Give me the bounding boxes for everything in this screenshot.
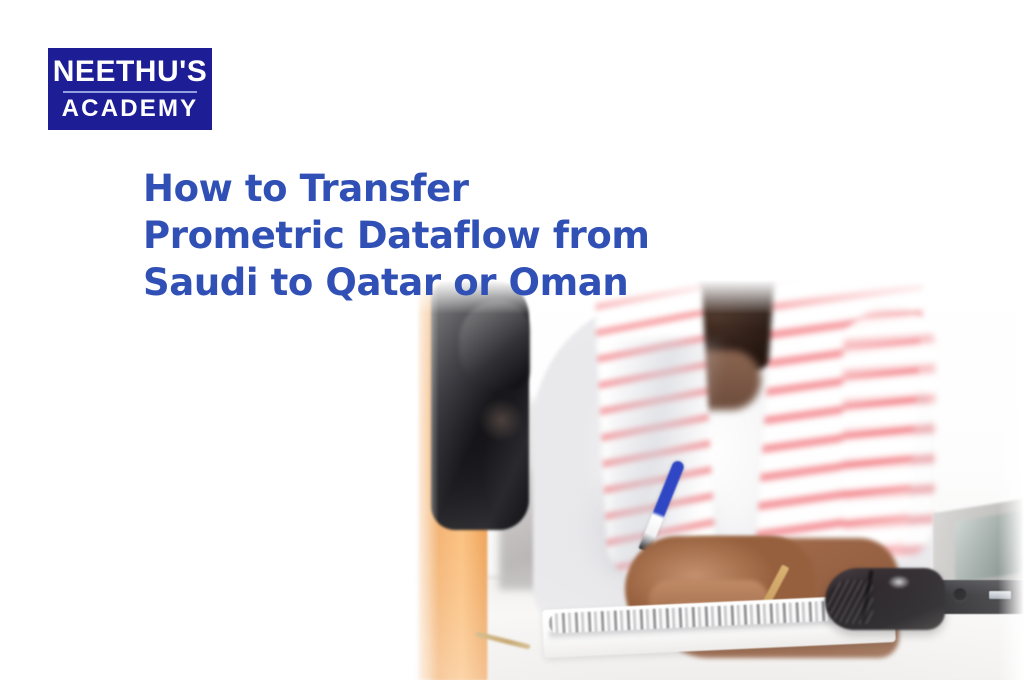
page-title-line-2: Prometric Dataflow from	[143, 212, 743, 259]
page-title-line-1: How to Transfer	[143, 165, 743, 212]
page-title-line-3: Saudi to Qatar or Oman	[143, 259, 743, 306]
photo-fade-left	[413, 280, 439, 680]
promo-banner: NEETHU'S ACADEMY How to Transfer Prometr…	[0, 0, 1024, 680]
neethus-academy-logo[interactable]: NEETHU'S ACADEMY	[48, 48, 212, 130]
man-writing-in-notebook-photo	[413, 280, 1024, 680]
page-title: How to Transfer Prometric Dataflow from …	[143, 165, 743, 306]
photo-fade-right	[998, 280, 1024, 680]
audio-jack-icon	[953, 588, 967, 602]
red-white-ghutra-right-back	[843, 310, 935, 560]
orange-office-chair-lower	[431, 520, 487, 680]
logo-brand-subtitle: ACADEMY	[62, 97, 199, 121]
logo-divider-line	[63, 91, 197, 93]
logo-brand-name: NEETHU'S	[53, 57, 207, 87]
